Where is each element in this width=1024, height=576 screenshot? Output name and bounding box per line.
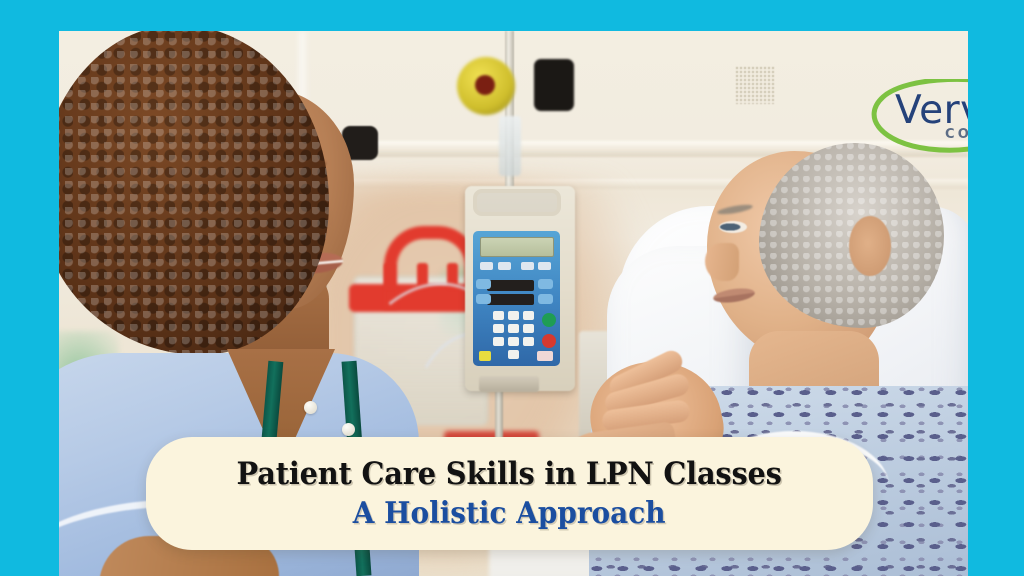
pump-keypad-6 bbox=[523, 324, 534, 333]
drip-chamber bbox=[499, 116, 521, 176]
patient-eye bbox=[719, 221, 747, 233]
pump-keypad-2 bbox=[508, 311, 519, 320]
pump-keypad-3 bbox=[523, 311, 534, 320]
patient-ear bbox=[849, 216, 891, 276]
scrub-button-2 bbox=[342, 423, 355, 436]
pump-softkey-3 bbox=[521, 262, 534, 270]
banner-headline: Patient Care Skills in LPN Classes bbox=[237, 456, 782, 492]
featured-image-canvas: Verve COLLEGE Patient Care Skills in LPN… bbox=[0, 0, 1024, 576]
pump-softkey-2 bbox=[498, 262, 511, 270]
pole-clamp bbox=[534, 59, 574, 111]
pump-carry-handle bbox=[473, 189, 561, 216]
pump-blue-key-right-2 bbox=[538, 294, 553, 304]
pump-blue-key-left-1 bbox=[476, 279, 491, 289]
scrub-button-1 bbox=[304, 401, 317, 414]
pump-keypad-9 bbox=[523, 337, 534, 346]
pump-keypad-5 bbox=[508, 324, 519, 333]
pump-blue-key-left-2 bbox=[476, 294, 491, 304]
pump-keypad-4 bbox=[493, 324, 504, 333]
pump-softkey-1 bbox=[480, 262, 493, 270]
pump-keypad-1 bbox=[493, 311, 504, 320]
pump-keypad-0 bbox=[508, 350, 519, 359]
pump-start-button bbox=[542, 313, 556, 327]
pump-warning-label bbox=[479, 351, 491, 361]
pump-keypad-8 bbox=[508, 337, 519, 346]
title-banner: Patient Care Skills in LPN Classes A Hol… bbox=[146, 437, 873, 550]
pump-stop-button bbox=[542, 334, 556, 348]
wall-vent-grille-icon bbox=[735, 66, 775, 104]
pump-softkey-4 bbox=[538, 262, 551, 270]
pump-lcd-display bbox=[480, 237, 554, 257]
pump-keypad-7 bbox=[493, 337, 504, 346]
banner-subheadline: A Holistic Approach bbox=[353, 496, 666, 531]
flow-regulator-core bbox=[475, 75, 495, 95]
pump-blue-key-right-1 bbox=[538, 279, 553, 289]
pump-value-row-1 bbox=[487, 280, 534, 291]
verve-college-logo: Verve COLLEGE bbox=[867, 79, 968, 153]
pump-brand-label bbox=[537, 351, 553, 361]
pump-pole-clamp bbox=[479, 376, 539, 392]
logo-subtext: COLLEGE bbox=[945, 127, 968, 142]
patient-nose bbox=[705, 243, 739, 281]
pump-value-row-2 bbox=[487, 294, 534, 305]
